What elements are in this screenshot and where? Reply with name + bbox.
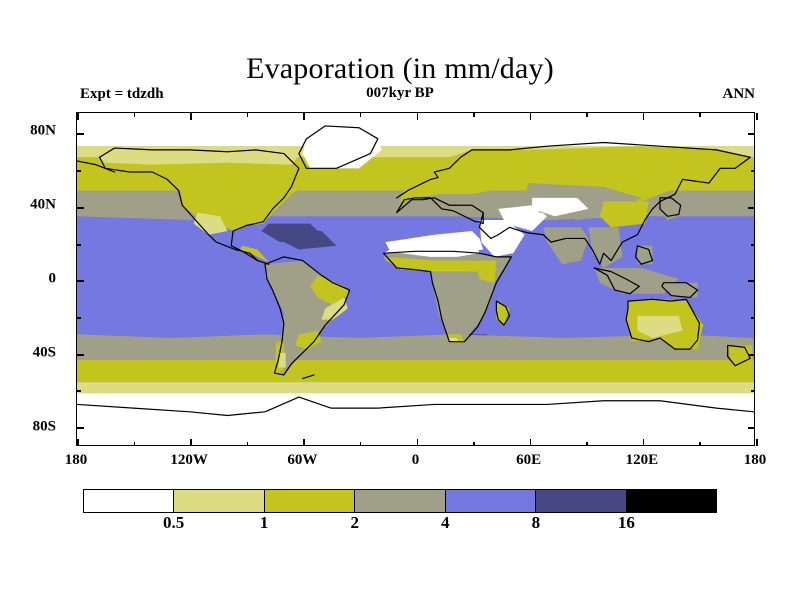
colorbar-segment-lowest	[84, 490, 174, 512]
x-axis-label-120W--120: 120W	[170, 452, 208, 469]
y-tick-40N	[77, 207, 84, 209]
map-plot-area	[76, 112, 755, 446]
band-arctic-lowest	[77, 113, 754, 146]
x-tick--30-top	[360, 113, 362, 117]
y-tick-40S	[77, 354, 84, 356]
x-axis-label-180-180: 180	[744, 452, 767, 469]
colorbar-segment-dark-slate-blue	[536, 490, 626, 512]
colorbar-segment-periwinkle	[446, 490, 536, 512]
y-tick-right-80S	[748, 427, 755, 429]
y-tick-right-40N	[748, 207, 755, 209]
x-tick-180-bottom	[756, 439, 758, 446]
y-axis-labels: 80N40N040S80S	[0, 112, 68, 446]
colorbar-tick-1: 1	[260, 513, 269, 533]
colorbar-segment-sage-gray	[355, 490, 445, 512]
x-tick--60-top	[303, 113, 305, 120]
x-tick-120-bottom	[643, 439, 645, 446]
colorbar-tick-0.5: 0.5	[163, 513, 184, 533]
x-tick-60-bottom	[530, 439, 532, 446]
y-axis-label-40S: 40S	[33, 345, 56, 362]
evaporation-contour-map	[77, 113, 754, 445]
x-tick--150-bottom	[134, 442, 136, 446]
x-tick-0-top	[417, 113, 419, 120]
y-tick-80S	[77, 427, 84, 429]
x-tick-90-top	[586, 113, 588, 117]
y-tick-right-40S	[748, 354, 755, 356]
band-southern-olive	[77, 356, 754, 382]
y-tick-right-60N	[751, 170, 755, 172]
x-axis-label-180--180: 180	[65, 452, 88, 469]
x-axis-label-60E-60: 60E	[516, 452, 541, 469]
x-tick--180-bottom	[77, 439, 79, 446]
colorbar-labels: 0.5124816	[83, 513, 717, 537]
colorbar-segment-pale-yellow	[174, 490, 264, 512]
x-tick--180-top	[77, 113, 79, 120]
x-axis-label-0-0: 0	[412, 452, 420, 469]
x-tick--30-bottom	[360, 442, 362, 446]
x-tick--120-top	[190, 113, 192, 120]
y-axis-label-40N: 40N	[30, 196, 56, 213]
x-axis-label-120E-120: 120E	[626, 452, 659, 469]
y-tick-right-80N	[748, 133, 755, 135]
x-tick--120-bottom	[190, 439, 192, 446]
x-tick--90-bottom	[247, 442, 249, 446]
x-tick-150-bottom	[699, 442, 701, 446]
x-tick-180-top	[756, 113, 758, 120]
page-title: Evaporation (in mm/day)	[0, 52, 800, 86]
experiment-label: Expt = tdzdh	[80, 86, 164, 103]
y-tick-right-0	[748, 280, 755, 282]
y-tick-right-20N	[751, 244, 755, 246]
x-tick-30-top	[473, 113, 475, 117]
climate-map-figure: Evaporation (in mm/day) 007kyr BP Expt =…	[0, 0, 800, 600]
y-tick-60S	[77, 390, 81, 392]
y-tick-80N	[77, 133, 84, 135]
colorbar-tick-2: 2	[350, 513, 359, 533]
season-label: ANN	[723, 86, 756, 103]
contour-bands	[77, 113, 754, 445]
y-tick-right-20S	[751, 317, 755, 319]
x-tick-30-bottom	[473, 442, 475, 446]
colorbar-tick-4: 4	[441, 513, 450, 533]
x-tick--150-top	[134, 113, 136, 117]
x-tick-60-top	[530, 113, 532, 120]
x-axis-label-60W--60: 60W	[287, 452, 317, 469]
colorbar	[83, 489, 717, 513]
colorbar-segment-black	[627, 490, 716, 512]
y-axis-label-80S: 80S	[33, 419, 56, 436]
y-tick-0	[77, 280, 84, 282]
y-tick-right-60S	[751, 390, 755, 392]
x-tick--60-bottom	[303, 439, 305, 446]
y-tick-20S	[77, 317, 81, 319]
x-tick-150-top	[699, 113, 701, 117]
colorbar-tick-8: 8	[532, 513, 541, 533]
y-axis-label-0: 0	[49, 271, 57, 288]
y-axis-label-80N: 80N	[30, 122, 56, 139]
x-axis-labels: 180120W60W060E120E180	[76, 452, 755, 476]
colorbar-segment-olive	[265, 490, 355, 512]
x-tick-90-bottom	[586, 442, 588, 446]
colorbar-tick-16: 16	[618, 513, 635, 533]
x-tick-0-bottom	[417, 439, 419, 446]
x-tick-120-top	[643, 113, 645, 120]
x-tick--90-top	[247, 113, 249, 117]
y-tick-20N	[77, 244, 81, 246]
y-tick-60N	[77, 170, 81, 172]
